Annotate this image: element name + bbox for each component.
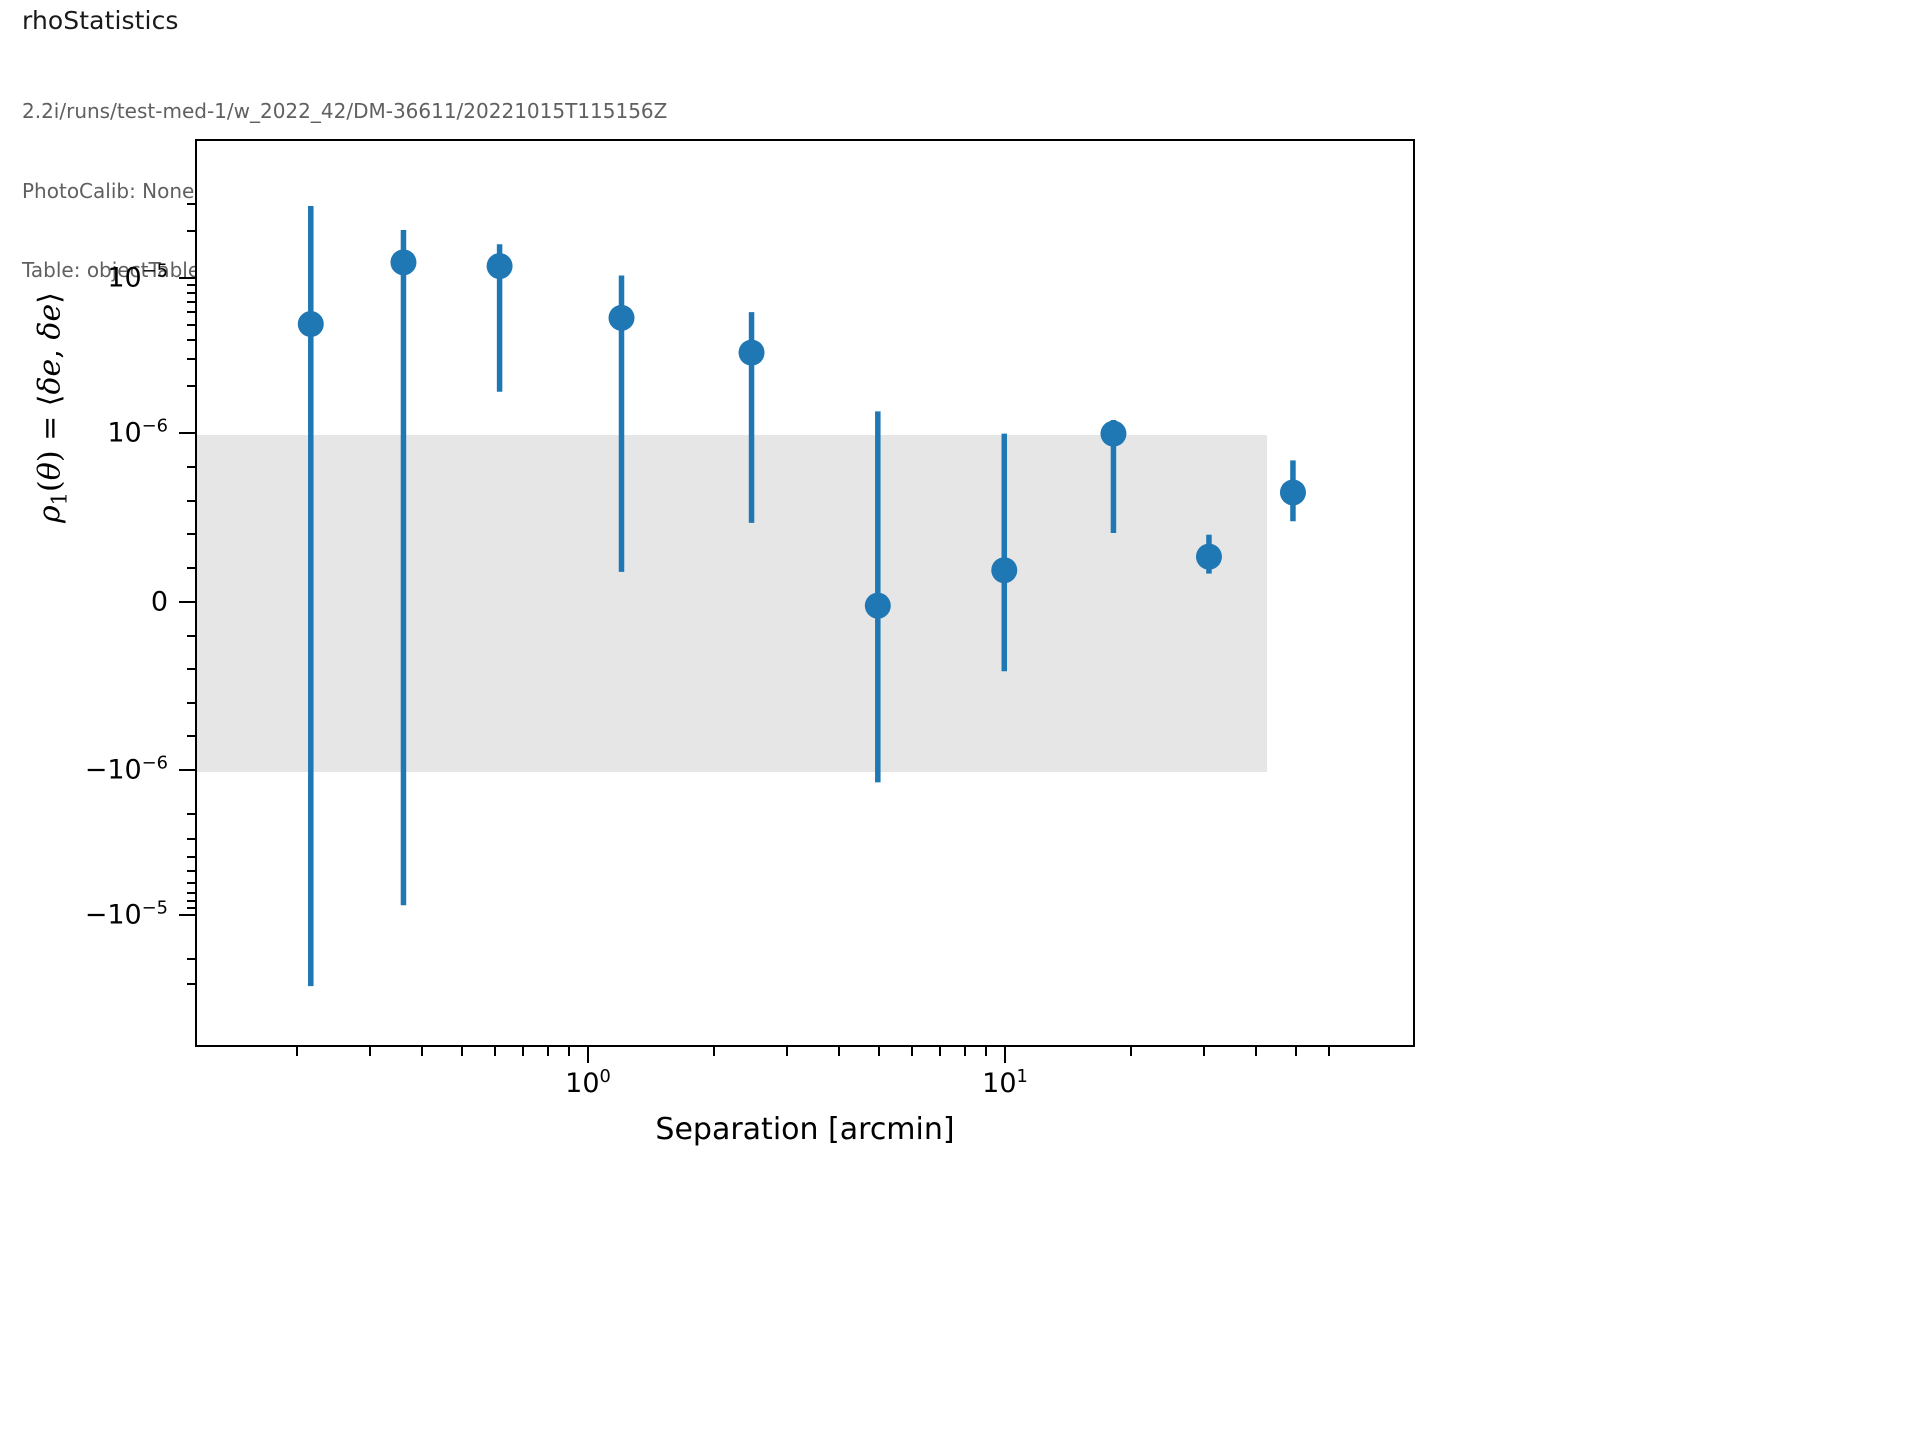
y-tick-mark — [179, 769, 195, 771]
y-tick-mark-minor — [187, 958, 195, 960]
subtitle-line-run: 2.2i/runs/test-med-1/w_2022_42/DM-36611/… — [22, 98, 672, 125]
y-tick-mark-minor — [187, 735, 195, 737]
y-tick-mark-minor — [187, 385, 195, 387]
data-point — [1100, 421, 1126, 447]
y-tick-mark-minor — [187, 813, 195, 815]
data-point — [298, 311, 324, 337]
y-tick-label: 10−5 — [0, 263, 168, 294]
y-tick-mark-minor — [187, 533, 195, 535]
x-tick-mark-minor — [369, 1047, 371, 1056]
y-tick-mark-minor — [187, 668, 195, 670]
y-tick-mark-minor — [187, 838, 195, 840]
x-tick-mark-minor — [568, 1047, 570, 1056]
data-point — [1196, 544, 1222, 570]
data-layer — [197, 141, 1415, 1047]
x-tick-mark-minor — [911, 1047, 913, 1056]
y-tick-mark-minor — [187, 301, 195, 303]
x-tick-mark-minor — [838, 1047, 840, 1056]
x-tick-mark-minor — [1255, 1047, 1257, 1056]
y-tick-mark-minor — [187, 907, 195, 909]
x-tick-mark-minor — [964, 1047, 966, 1056]
x-tick-mark-minor — [939, 1047, 941, 1056]
y-tick-mark-minor — [187, 339, 195, 341]
x-tick-mark-minor — [1328, 1047, 1330, 1056]
x-tick-mark — [1004, 1047, 1006, 1063]
x-tick-label: 101 — [982, 1068, 1028, 1099]
x-tick-mark-minor — [494, 1047, 496, 1056]
data-point — [487, 253, 513, 279]
y-tick-mark-minor — [187, 882, 195, 884]
y-tick-mark-minor — [187, 284, 195, 286]
y-tick-mark-minor — [187, 900, 195, 902]
x-axis-title: Separation [arcmin] — [0, 1112, 1610, 1147]
y-axis-title: ρ1(θ) = ⟨δe, δe⟩ — [33, 58, 68, 758]
x-tick-mark-minor — [713, 1047, 715, 1056]
x-tick-mark — [587, 1047, 589, 1063]
y-tick-mark-minor — [187, 500, 195, 502]
x-tick-mark-minor — [985, 1047, 987, 1056]
data-point — [390, 249, 416, 275]
y-tick-mark — [179, 914, 195, 916]
x-tick-mark-minor — [461, 1047, 463, 1056]
data-point — [1280, 479, 1306, 505]
x-tick-mark-minor — [547, 1047, 549, 1056]
x-tick-mark-minor — [421, 1047, 423, 1056]
y-tick-mark — [179, 601, 195, 603]
x-tick-label: 100 — [565, 1068, 611, 1099]
y-tick-label: −10−6 — [0, 755, 168, 786]
y-tick-mark-minor — [187, 567, 195, 569]
y-tick-mark-minor — [187, 358, 195, 360]
y-tick-mark-minor — [187, 702, 195, 704]
y-tick-label: −10−5 — [0, 900, 168, 931]
y-tick-mark-minor — [187, 983, 195, 985]
plot-area — [195, 139, 1415, 1047]
y-tick-mark-minor — [187, 635, 195, 637]
y-tick-mark-minor — [187, 230, 195, 232]
y-tick-mark-minor — [187, 466, 195, 468]
data-point — [609, 305, 635, 331]
data-point — [865, 593, 891, 619]
y-tick-label: 10−6 — [0, 418, 168, 449]
y-tick-mark-minor — [187, 324, 195, 326]
y-tick-mark-minor — [187, 870, 195, 872]
y-tick-mark-minor — [187, 856, 195, 858]
x-tick-mark-minor — [296, 1047, 298, 1056]
figure-title: rhoStatistics — [22, 6, 179, 35]
y-tick-mark-minor — [187, 292, 195, 294]
y-tick-mark — [179, 432, 195, 434]
y-tick-mark-minor — [187, 203, 195, 205]
y-tick-mark-minor — [187, 892, 195, 894]
x-tick-mark-minor — [1295, 1047, 1297, 1056]
x-tick-mark-minor — [878, 1047, 880, 1056]
x-tick-mark-minor — [786, 1047, 788, 1056]
y-tick-mark — [179, 277, 195, 279]
data-point — [739, 340, 765, 366]
y-tick-mark-minor — [187, 311, 195, 313]
x-tick-mark-minor — [1130, 1047, 1132, 1056]
y-tick-label: 0 — [0, 587, 168, 618]
data-point — [991, 557, 1017, 583]
figure-canvas: rhoStatistics 2.2i/runs/test-med-1/w_202… — [0, 0, 1920, 1440]
x-tick-mark-minor — [522, 1047, 524, 1056]
x-tick-mark-minor — [1203, 1047, 1205, 1056]
